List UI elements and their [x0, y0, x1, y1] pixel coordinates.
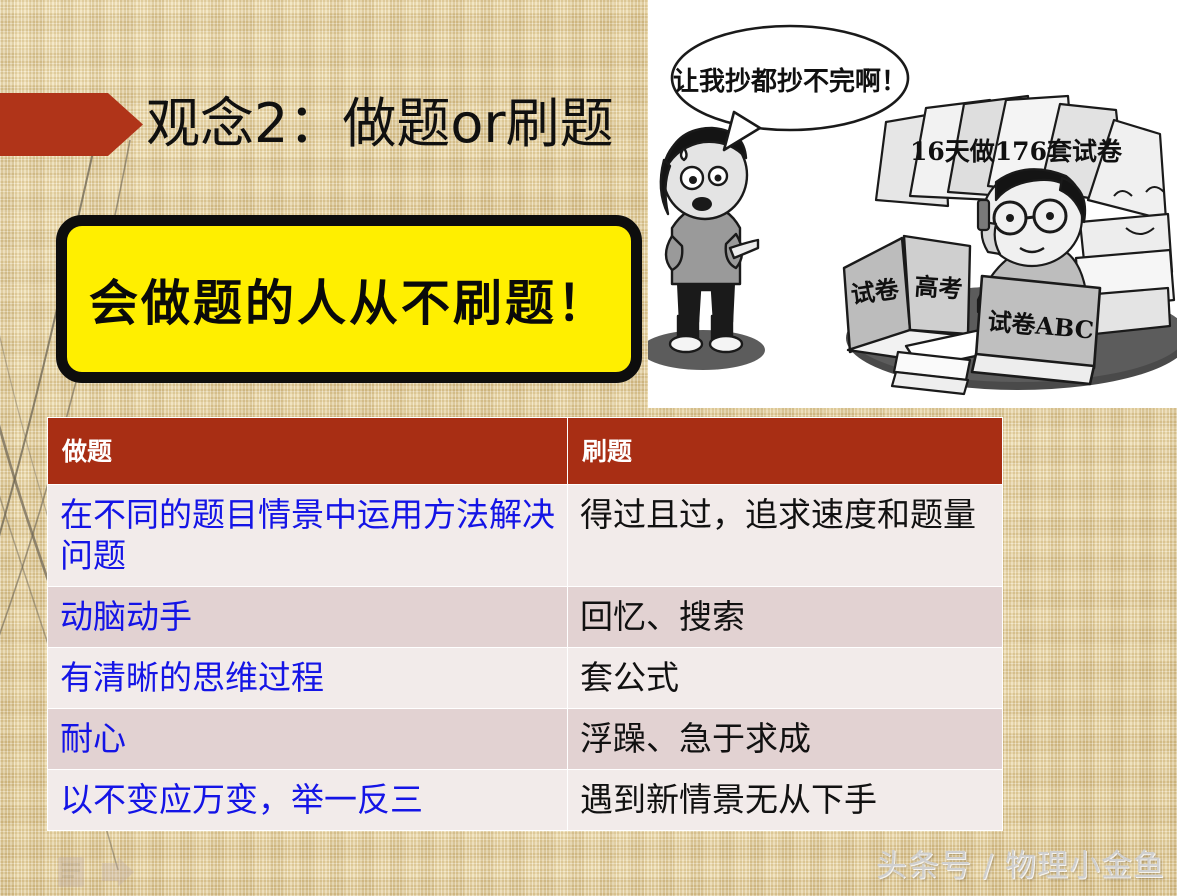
watermark: 头条号 / 物理小金鱼 — [876, 840, 1165, 885]
cell-zuoti-4: 耐心 — [48, 709, 568, 770]
page-title: 观念2：做题or刷题 — [146, 86, 614, 162]
table-row: 动脑动手 回忆、搜索 — [48, 587, 1003, 648]
table-row: 在不同的题目情景中运用方法解决问题 得过且过，追求速度和题量 — [48, 485, 1003, 587]
embedded-object-icons — [56, 855, 156, 889]
slide-canvas: 观念2：做题or刷题 会做题的人从不刷题！ 16天做176套试卷 — [0, 0, 1177, 896]
table-row: 以不变应万变，举一反三 遇到新情景无从下手 — [48, 770, 1003, 831]
cell-zuoti-2: 动脑动手 — [48, 587, 568, 648]
comparison-table: 做题 刷题 在不同的题目情景中运用方法解决问题 得过且过，追求速度和题量 动脑动… — [47, 417, 1003, 831]
highlight-callout-text: 会做题的人从不刷题！ — [89, 264, 609, 335]
table-row: 耐心 浮躁、急于求成 — [48, 709, 1003, 770]
cell-zuoti-5: 以不变应万变，举一反三 — [48, 770, 568, 831]
table-header-row: 做题 刷题 — [48, 418, 1003, 485]
table-header-shuati: 刷题 — [568, 418, 1003, 485]
cell-shuati-3: 套公式 — [568, 648, 1003, 709]
table-header-zuoti: 做题 — [48, 418, 568, 485]
highlight-callout: 会做题的人从不刷题！ — [56, 215, 642, 383]
cell-zuoti-1: 在不同的题目情景中运用方法解决问题 — [48, 485, 568, 587]
pile-label: 16天做176套试卷 — [910, 137, 1123, 166]
book-label-2: 高考 — [914, 271, 964, 303]
table-row: 有清晰的思维过程 套公式 — [48, 648, 1003, 709]
cell-shuati-5: 遇到新情景无从下手 — [568, 770, 1003, 831]
cartoon-illustration: 16天做176套试卷 — [648, 0, 1177, 408]
cell-shuati-4: 浮躁、急于求成 — [568, 709, 1003, 770]
cell-shuati-2: 回忆、搜索 — [568, 587, 1003, 648]
cell-shuati-1: 得过且过，追求速度和题量 — [568, 485, 1003, 587]
speech-bubble-text: 让我抄都抄不完啊！ — [673, 66, 907, 97]
section-chevron-banner — [0, 93, 143, 156]
cell-zuoti-3: 有清晰的思维过程 — [48, 648, 568, 709]
